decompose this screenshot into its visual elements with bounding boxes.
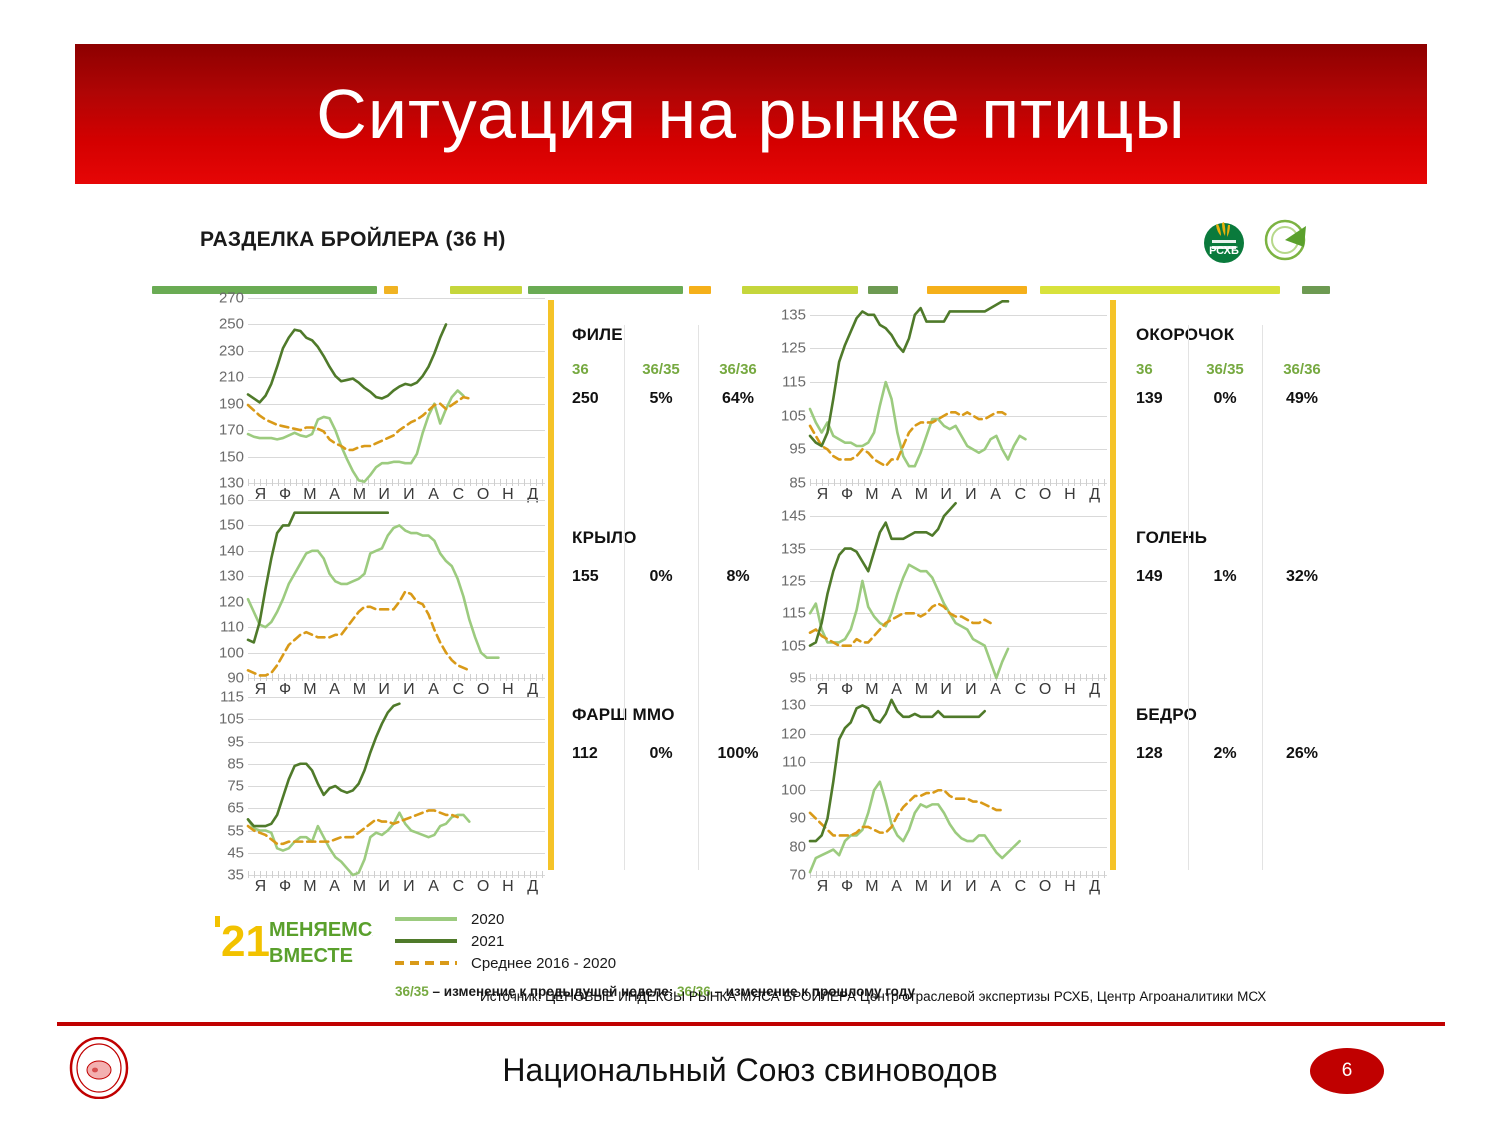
chart-legend: 2020 2021 Среднее 2016 - 2020 36/35 – из…: [395, 908, 915, 999]
y-axis-file: 130150170190210230250270: [200, 298, 246, 483]
info-panel-farsh-mmo: ФАРШ ММО1120%100%: [572, 705, 778, 763]
x-tick-bedro-4: М: [909, 878, 934, 896]
y-tick-okorochok-2: 105: [781, 407, 806, 424]
y-tick-farsh-mmo-3: 65: [227, 800, 244, 817]
x-tick-bedro-0: Я: [810, 878, 835, 896]
cut-name-krylo: КРЫЛО: [572, 528, 778, 548]
x-tick-farsh-mmo-1: Ф: [273, 878, 298, 896]
y-tick-file-4: 210: [219, 369, 244, 386]
y-tick-okorochok-5: 135: [781, 306, 806, 323]
metric-36-krylo: 155: [572, 568, 624, 586]
page-title: Ситуация на рынке птицы: [316, 74, 1185, 154]
y-tick-krylo-6: 150: [219, 517, 244, 534]
x-tick-farsh-mmo-2: М: [298, 878, 323, 896]
y-tick-bedro-6: 130: [781, 697, 806, 714]
legend-item-2020: 2020: [395, 908, 915, 930]
info-panel-file: ФИЛЕ3636/3536/362505%64%: [572, 325, 778, 408]
x-tick-farsh-mmo-10: Н: [496, 878, 521, 896]
metric-36-36-bedro: 26%: [1262, 745, 1342, 763]
plot-area-golen: [810, 500, 1107, 678]
series-line-farsh-mmo-2021: [248, 704, 399, 826]
ribbon-segment-1: [384, 286, 398, 294]
series-layer-krylo: [248, 500, 545, 678]
ribbon-segment-6: [868, 286, 898, 294]
metrics-values-file: 2505%64%: [572, 390, 778, 408]
y-tick-farsh-mmo-5: 85: [227, 755, 244, 772]
y-tick-golen-4: 135: [781, 540, 806, 557]
ribbon-segment-8: [1040, 286, 1280, 294]
x-tick-bedro-9: О: [1033, 878, 1058, 896]
separator-right-column: [1110, 300, 1116, 870]
green-arrow-circle-icon: [1262, 217, 1308, 263]
cut-name-file: ФИЛЕ: [572, 325, 778, 345]
plot-area-bedro: [810, 697, 1107, 875]
metrics-header-file: 3636/3536/36: [572, 361, 778, 378]
y-tick-golen-1: 105: [781, 637, 806, 654]
chart-plot-farsh-mmo: 35455565758595105115: [200, 697, 545, 875]
series-layer-file: [248, 298, 545, 483]
plot-area-farsh-mmo: [248, 697, 545, 875]
series-layer-farsh-mmo: [248, 697, 545, 875]
chart-plot-file: 130150170190210230250270: [200, 298, 545, 483]
x-tick-farsh-mmo-9: О: [471, 878, 496, 896]
footer-title: Национальный Союз свиноводов: [0, 1052, 1500, 1089]
ribbon-segment-4: [689, 286, 711, 294]
legend-swatch-2021: [395, 939, 457, 943]
series-line-file-2021: [248, 324, 446, 402]
chart-file: 130150170190210230250270ЯФМАМИИАСОНД: [200, 298, 545, 511]
metric-36-35-okorochok: 0%: [1188, 390, 1262, 408]
y-axis-okorochok: 8595105115125135: [762, 298, 808, 483]
y-axis-bedro: 708090100110120130: [762, 697, 808, 875]
metric-36-file: 250: [572, 390, 624, 408]
y-tick-bedro-4: 110: [782, 753, 806, 770]
y-axis-krylo: 90100110120130140150160: [200, 500, 246, 678]
x-tick-farsh-mmo-7: А: [421, 878, 446, 896]
svg-text:ВМЕСТЕ: ВМЕСТЕ: [269, 945, 353, 967]
y-tick-farsh-mmo-1: 45: [227, 844, 244, 861]
metrics-values-okorochok: 1390%49%: [1136, 390, 1342, 408]
brand-21-logo-icon: 21 МЕНЯЕМСЯ ВМЕСТЕ: [213, 910, 373, 972]
y-axis-farsh-mmo: 35455565758595105115: [200, 697, 246, 875]
metric-column-divider-0-1: [698, 325, 699, 870]
x-tick-bedro-10: Н: [1058, 878, 1083, 896]
x-axis-farsh-mmo: ЯФМАМИИАСОНД: [248, 878, 545, 896]
chart-plot-bedro: 708090100110120130: [762, 697, 1107, 875]
metric-36-golen: 149: [1136, 568, 1188, 586]
info-panel-golen: ГОЛЕНЬ1491%32%: [1136, 528, 1342, 586]
series-line-krylo-2020: [248, 525, 498, 657]
x-tick-farsh-mmo-11: Д: [520, 878, 545, 896]
legend-note-key-a: 36/35: [395, 984, 429, 999]
x-tick-farsh-mmo-3: А: [322, 878, 347, 896]
legend-label-2021: 2021: [471, 933, 504, 950]
y-tick-bedro-1: 80: [789, 838, 806, 855]
y-tick-krylo-2: 110: [220, 619, 244, 636]
y-tick-bedro-2: 90: [789, 810, 806, 827]
metric-36-36-okorochok: 49%: [1262, 390, 1342, 408]
series-line-bedro-Среднее-2016---2020: [810, 790, 1002, 835]
x-tick-bedro-8: С: [1008, 878, 1033, 896]
x-tick-farsh-mmo-8: С: [446, 878, 471, 896]
block-title: РАЗДЕЛКА БРОЙЛЕРА (36 Н): [200, 228, 506, 252]
y-tick-file-1: 150: [219, 448, 244, 465]
metrics-header-c3-okorochok: 36/36: [1262, 361, 1342, 378]
y-tick-krylo-3: 120: [219, 593, 244, 610]
metrics-header-okorochok: 3636/3536/36: [1136, 361, 1342, 378]
chart-farsh-mmo: 35455565758595105115ЯФМАМИИАСОНД: [200, 697, 545, 903]
y-tick-krylo-7: 160: [219, 492, 244, 509]
ribbon-segment-5: [742, 286, 858, 294]
y-tick-krylo-5: 140: [219, 542, 244, 559]
x-tick-bedro-5: И: [934, 878, 959, 896]
series-line-farsh-mmo-Среднее-2016---2020: [248, 810, 458, 843]
y-tick-bedro-0: 70: [789, 867, 806, 884]
metric-36-farsh-mmo: 112: [572, 745, 624, 763]
chart-plot-okorochok: 8595105115125135: [762, 298, 1107, 483]
y-tick-golen-0: 95: [789, 670, 806, 687]
legend-item-average: Среднее 2016 - 2020: [395, 952, 915, 974]
svg-text:РСХБ: РСХБ: [1209, 245, 1239, 257]
metrics-header-c2-okorochok: 36/35: [1188, 361, 1262, 378]
series-line-bedro-2021: [810, 700, 985, 841]
y-tick-krylo-1: 100: [219, 644, 244, 661]
metric-column-divider-1-0: [1188, 325, 1189, 870]
plot-area-okorochok: [810, 298, 1107, 483]
y-tick-okorochok-1: 95: [789, 441, 806, 458]
ribbon-segment-7: [927, 286, 1027, 294]
metric-36-35-bedro: 2%: [1188, 745, 1262, 763]
y-tick-okorochok-3: 115: [782, 374, 806, 391]
metric-36-35-krylo: 0%: [624, 568, 698, 586]
chart-plot-golen: 95105115125135145: [762, 500, 1107, 678]
y-tick-krylo-4: 130: [219, 568, 244, 585]
x-tick-bedro-1: Ф: [835, 878, 860, 896]
x-tick-farsh-mmo-4: М: [347, 878, 372, 896]
plot-area-file: [248, 298, 545, 483]
title-banner: Ситуация на рынке птицы: [75, 44, 1427, 184]
y-tick-file-5: 230: [219, 342, 244, 359]
y-tick-file-7: 270: [219, 290, 244, 307]
decorative-color-ribbon: [152, 286, 1330, 294]
chart-okorochok: 8595105115125135ЯФМАМИИАСОНД: [762, 298, 1107, 511]
y-tick-farsh-mmo-0: 35: [227, 867, 244, 884]
plot-area-krylo: [248, 500, 545, 678]
footer-divider: [57, 1022, 1445, 1026]
legend-swatch-average: [395, 961, 457, 965]
series-line-okorochok-2021: [810, 301, 1008, 446]
legend-label-average: Среднее 2016 - 2020: [471, 955, 616, 972]
metrics-header-c2-file: 36/35: [624, 361, 698, 378]
info-panel-bedro: БЕДРО1282%26%: [1136, 705, 1342, 763]
x-tick-farsh-mmo-6: И: [397, 878, 422, 896]
svg-text:21: 21: [221, 917, 270, 966]
metrics-header-c1-file: 36: [572, 361, 624, 378]
metrics-values-bedro: 1282%26%: [1136, 745, 1342, 763]
x-axis-bedro: ЯФМАМИИАСОНД: [810, 878, 1107, 896]
y-tick-file-6: 250: [219, 316, 244, 333]
y-tick-okorochok-4: 125: [781, 340, 806, 357]
y-tick-krylo-0: 90: [227, 670, 244, 687]
x-tick-farsh-mmo-5: И: [372, 878, 397, 896]
cut-name-bedro: БЕДРО: [1136, 705, 1342, 725]
ribbon-segment-0: [152, 286, 377, 294]
y-tick-farsh-mmo-2: 55: [227, 822, 244, 839]
metrics-values-krylo: 1550%8%: [572, 568, 778, 586]
partner-logos: РСХБ: [1198, 214, 1308, 266]
metric-36-bedro: 128: [1136, 745, 1188, 763]
ribbon-segment-3: [528, 286, 683, 294]
x-tick-bedro-2: М: [860, 878, 885, 896]
cut-name-farsh-mmo: ФАРШ ММО: [572, 705, 778, 725]
y-tick-bedro-3: 100: [781, 782, 806, 799]
cut-name-golen: ГОЛЕНЬ: [1136, 528, 1342, 548]
x-tick-farsh-mmo-0: Я: [248, 878, 273, 896]
y-tick-farsh-mmo-4: 75: [227, 778, 244, 795]
ribbon-segment-2: [450, 286, 522, 294]
y-tick-bedro-5: 120: [781, 725, 806, 742]
metrics-header-c1-okorochok: 36: [1136, 361, 1188, 378]
y-tick-golen-3: 125: [781, 572, 806, 589]
x-tick-bedro-7: А: [983, 878, 1008, 896]
metrics-values-golen: 1491%32%: [1136, 568, 1342, 586]
series-line-golen-2020: [810, 565, 1008, 678]
series-layer-okorochok: [810, 298, 1107, 483]
legend-label-2020: 2020: [471, 911, 504, 928]
legend-swatch-2020: [395, 917, 457, 921]
y-tick-farsh-mmo-8: 115: [220, 689, 244, 706]
y-tick-file-2: 170: [219, 422, 244, 439]
rshb-logo-icon: РСХБ: [1198, 214, 1250, 266]
metrics-values-farsh-mmo: 1120%100%: [572, 745, 778, 763]
y-tick-farsh-mmo-6: 95: [227, 733, 244, 750]
y-tick-okorochok-0: 85: [789, 475, 806, 492]
metric-36-35-file: 5%: [624, 390, 698, 408]
chart-krylo: 90100110120130140150160ЯФМАМИИАСОНД: [200, 500, 545, 706]
y-tick-golen-5: 145: [781, 508, 806, 525]
series-line-file-2020: [248, 391, 463, 482]
legend-item-2021: 2021: [395, 930, 915, 952]
y-tick-file-3: 190: [219, 395, 244, 412]
x-tick-bedro-6: И: [959, 878, 984, 896]
metric-column-divider-1-1: [1262, 325, 1263, 870]
separator-left-column: [548, 300, 554, 870]
y-tick-file-0: 130: [219, 475, 244, 492]
y-axis-golen: 95105115125135145: [762, 500, 808, 678]
info-panel-okorochok: ОКОРОЧОК3636/3536/361390%49%: [1136, 325, 1342, 408]
y-tick-farsh-mmo-7: 105: [219, 711, 244, 728]
metric-36-36-golen: 32%: [1262, 568, 1342, 586]
chart-bedro: 708090100110120130ЯФМАМИИАСОНД: [762, 697, 1107, 903]
x-tick-bedro-11: Д: [1082, 878, 1107, 896]
metric-36-okorochok: 139: [1136, 390, 1188, 408]
page-number-badge: 6: [1310, 1048, 1384, 1094]
metric-36-35-golen: 1%: [1188, 568, 1262, 586]
series-layer-bedro: [810, 697, 1107, 875]
info-panel-krylo: КРЫЛО1550%8%: [572, 528, 778, 586]
x-tick-bedro-3: А: [884, 878, 909, 896]
series-layer-golen: [810, 500, 1107, 678]
metric-column-divider-0-0: [624, 325, 625, 870]
series-line-golen-Среднее-2016---2020: [810, 604, 991, 646]
ribbon-segment-9: [1302, 286, 1330, 294]
chart-plot-krylo: 90100110120130140150160: [200, 500, 545, 678]
metric-36-35-farsh-mmo: 0%: [624, 745, 698, 763]
cut-name-okorochok: ОКОРОЧОК: [1136, 325, 1342, 345]
svg-text:МЕНЯЕМСЯ: МЕНЯЕМСЯ: [269, 919, 373, 941]
source-line: Источник: ЦЕНОВЫЕ ИНДЕКСЫ РЫНКА МЯСА БРО…: [480, 989, 1266, 1004]
chart-golen: 95105115125135145ЯФМАМИИАСОНД: [762, 500, 1107, 706]
y-tick-golen-2: 115: [782, 605, 806, 622]
series-line-file-Среднее-2016---2020: [248, 397, 469, 450]
